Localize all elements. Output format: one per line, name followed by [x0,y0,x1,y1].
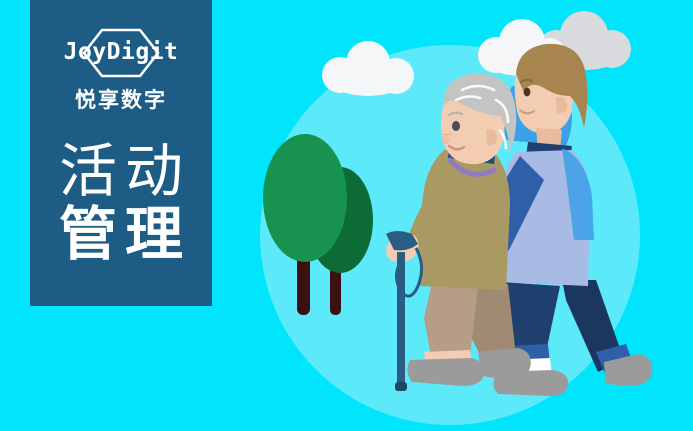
page-title: 活动 管理 [30,142,212,264]
logo: JoyDigit [46,28,196,78]
youth-eye [524,88,531,97]
elder-cheek [442,136,450,144]
elder-leg-front [424,282,478,362]
elder-shoe-front [407,358,484,386]
poster-canvas: JoyDigit 悦享数字 活动 管理 [0,0,693,431]
cane-tip [395,382,407,391]
page-title-line-2: 管理 [30,205,212,264]
elder-eye [452,121,460,131]
title-panel: JoyDigit 悦享数字 活动 管理 [30,0,212,306]
elder-shoe-back [478,348,531,380]
brand-name-cn: 悦享数字 [75,88,167,114]
youth-ear [556,97,567,113]
page-title-line-1: 活动 [30,142,212,201]
logo-wordmark: JoyDigit [46,37,196,67]
